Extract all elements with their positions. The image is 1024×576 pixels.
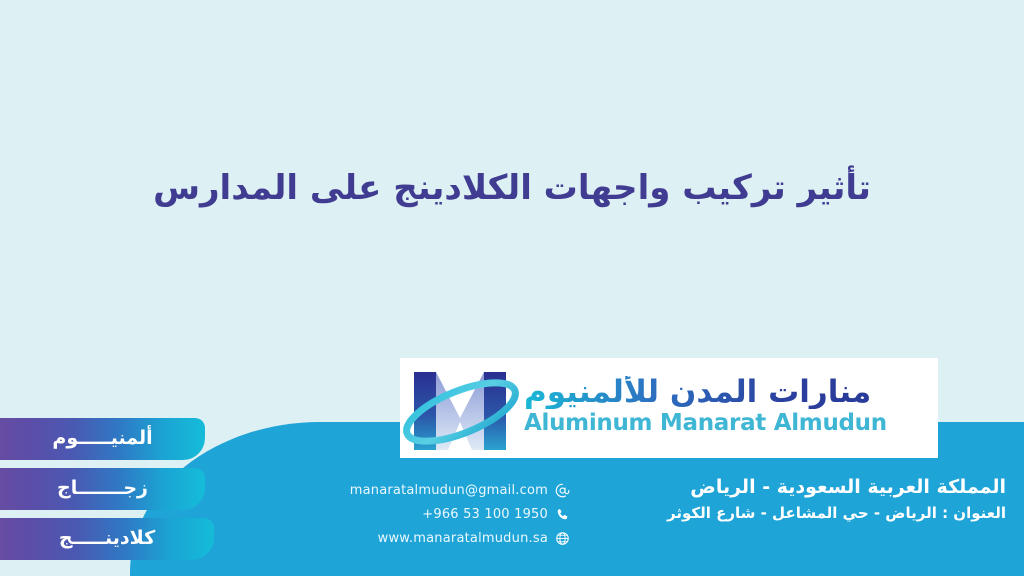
- contact-row-email[interactable]: manaratalmudun@gmail.com: [312, 478, 570, 502]
- tab-label-aluminum: ألمنيـــــوم: [52, 427, 152, 449]
- at-icon: [555, 483, 570, 498]
- logo-monogram-m-icon: [400, 360, 522, 456]
- contact-list: manaratalmudun@gmail.com +966 53 100 195…: [312, 478, 570, 550]
- sidebar-item-cladding[interactable]: كلادينـــــج: [0, 518, 214, 560]
- tab-label-cladding: كلادينـــــج: [59, 527, 155, 549]
- logo-arabic-name: منارات المدن للألمنيوم: [524, 376, 871, 409]
- globe-icon: [555, 531, 570, 546]
- tab-label-glass: زجـــــــاج: [57, 477, 148, 499]
- email-text: manaratalmudun@gmail.com: [350, 483, 548, 498]
- logo-english-name: Aluminum Manarat Almudun: [524, 411, 887, 436]
- contact-row-phone[interactable]: +966 53 100 1950: [312, 502, 570, 526]
- phone-text: +966 53 100 1950: [422, 507, 548, 522]
- logo-card: منارات المدن للألمنيوم Aluminum Manarat …: [400, 358, 938, 458]
- address-street: العنوان : الرياض - حي المشاعل - شارع الك…: [667, 502, 1006, 525]
- website-text: www.manaratalmudun.sa: [378, 531, 548, 546]
- phone-icon: [555, 507, 570, 522]
- sidebar-item-aluminum[interactable]: ألمنيـــــوم: [0, 418, 205, 460]
- page-title: تأثير تركيب واجهات الكلادينج على المدارس: [0, 166, 1024, 212]
- sidebar-item-glass[interactable]: زجـــــــاج: [0, 468, 205, 510]
- logo-wordmark: منارات المدن للألمنيوم Aluminum Manarat …: [524, 376, 889, 440]
- banner-canvas: تأثير تركيب واجهات الكلادينج على المدارس…: [0, 0, 1024, 576]
- contact-row-website[interactable]: www.manaratalmudun.sa: [312, 526, 570, 550]
- address-block: المملكة العربية السعودية - الرياض العنوا…: [667, 474, 1006, 524]
- address-country-city: المملكة العربية السعودية - الرياض: [667, 474, 1006, 502]
